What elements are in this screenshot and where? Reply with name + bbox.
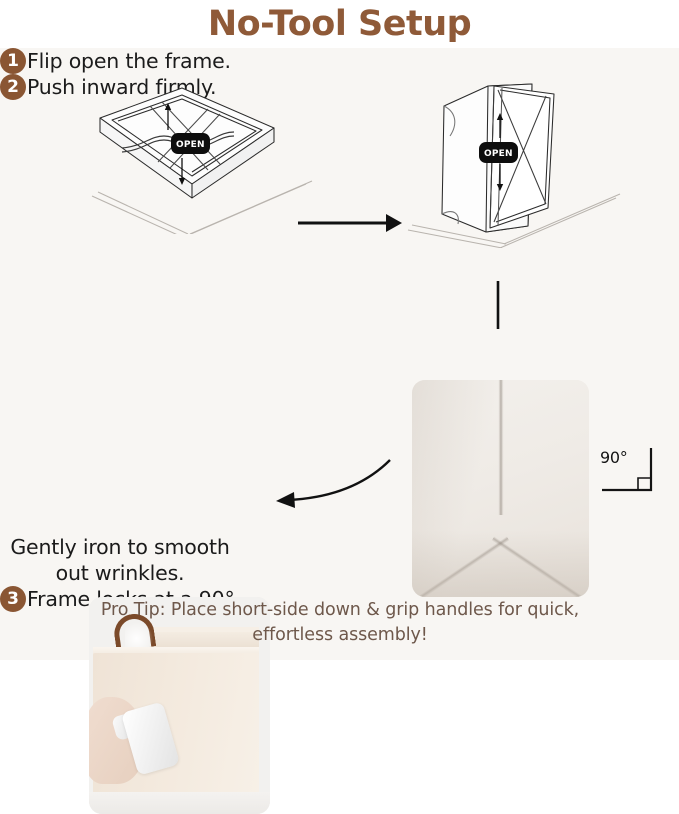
title-band: No-Tool Setup <box>0 0 679 48</box>
frame-corner-photo <box>412 380 589 597</box>
step-3-badge: 3 <box>0 586 26 612</box>
open-label-badge-step2: OPEN <box>479 142 518 163</box>
angle-label-text: 90° <box>600 448 627 467</box>
pro-tip-line-2: effortless assembly! <box>252 625 427 645</box>
upright-frame-diagram: OPEN <box>402 80 622 248</box>
open-label-badge-step1: OPEN <box>171 133 210 154</box>
corner-photo-bottom-shading <box>412 523 589 597</box>
step-2-badge: 2 <box>0 74 26 100</box>
step-4-caption-line-2: out wrinkles. <box>56 561 185 585</box>
right-angle-marker: 90° <box>600 446 656 494</box>
photo-floor <box>89 792 270 814</box>
page-title: No-Tool Setup <box>208 4 471 44</box>
pro-tip-line-1: Pro Tip: Place short-side down & grip ha… <box>101 600 579 620</box>
step-4-caption: Gently iron to smooth out wrinkles. <box>0 534 240 586</box>
step-4-caption-line-1: Gently iron to smooth <box>10 535 229 559</box>
infographic-body: OPEN <box>0 48 679 660</box>
arrow-step1-to-step2 <box>296 212 406 234</box>
pro-tip-footer: Pro Tip: Place short-side down & grip ha… <box>40 598 640 648</box>
step-1-caption-text: Flip open the frame. <box>27 49 231 73</box>
step-1-badge: 1 <box>0 48 26 74</box>
step-1-caption: 1 Flip open the frame. <box>0 48 679 74</box>
arrow-step2-to-step3 <box>493 280 503 330</box>
corner-vertical-seam <box>498 380 503 515</box>
arrow-step3-to-step4 <box>270 448 400 508</box>
